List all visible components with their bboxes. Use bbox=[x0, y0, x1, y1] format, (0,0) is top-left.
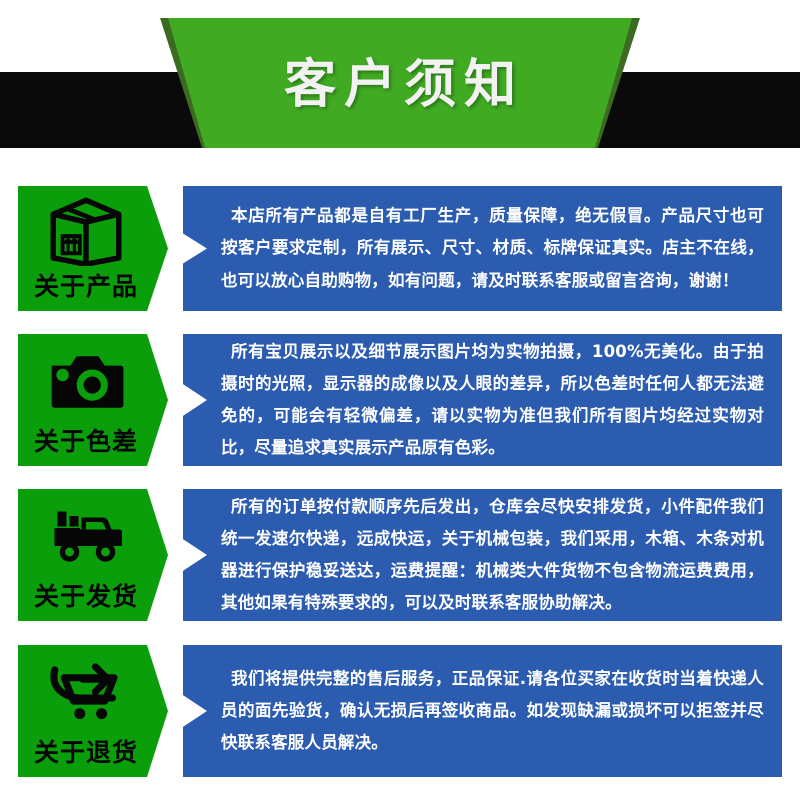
return-cart-icon bbox=[47, 645, 125, 740]
page-title: 客户须知 bbox=[276, 59, 524, 111]
section-row-color: 关于色差 所有宝贝展示以及细节展示图片均为实物拍摄，100%无美化。由于拍摄时的… bbox=[0, 334, 800, 466]
section-row-return: 关于退货 我们将提供完整的售后服务，正品保证.请各位买家在收货时当着快递人员的面… bbox=[0, 645, 800, 777]
section-label-product[interactable]: 关于产品 bbox=[18, 186, 168, 311]
section-body-text: 我们将提供完整的售后服务，正品保证.请各位买家在收货时当着快递人员的面先验货，确… bbox=[183, 663, 782, 760]
section-label-color[interactable]: 关于色差 bbox=[18, 334, 168, 466]
section-body-text: 所有宝贝展示以及细节展示图片均为实物拍摄，100%无美化。由于拍摄时的光照，显示… bbox=[183, 336, 782, 465]
section-panel-return: 我们将提供完整的售后服务，正品保证.请各位买家在收货时当着快递人员的面先验货，确… bbox=[183, 645, 782, 777]
section-row-product: 关于产品 本店所有产品都是自有工厂生产，质量保障，绝无假冒。产品尺寸也可按客户要… bbox=[0, 186, 800, 311]
package-box-icon bbox=[47, 186, 125, 274]
section-label-return[interactable]: 关于退货 bbox=[18, 645, 168, 777]
section-body-text: 本店所有产品都是自有工厂生产，质量保障，绝无假冒。产品尺寸也可按客户要求定制，所… bbox=[183, 200, 782, 297]
section-panel-color: 所有宝贝展示以及细节展示图片均为实物拍摄，100%无美化。由于拍摄时的光照，显示… bbox=[183, 334, 782, 466]
page-header: 客户须知 bbox=[0, 0, 800, 160]
forklift-truck-icon bbox=[47, 489, 125, 584]
section-row-shipping: 关于发货 所有的订单按付款顺序先后发出，仓库会尽快安排发货，小件配件我们统一发速… bbox=[0, 489, 800, 621]
section-label-shipping[interactable]: 关于发货 bbox=[18, 489, 168, 621]
section-label-text: 关于产品 bbox=[34, 274, 138, 311]
section-panel-shipping: 所有的订单按付款顺序先后发出，仓库会尽快安排发货，小件配件我们统一发速尔快递，远… bbox=[183, 489, 782, 621]
section-panel-product: 本店所有产品都是自有工厂生产，质量保障，绝无假冒。产品尺寸也可按客户要求定制，所… bbox=[183, 186, 782, 311]
section-label-text: 关于发货 bbox=[34, 584, 138, 621]
camera-icon bbox=[47, 334, 125, 429]
banner-ribbon: 客户须知 bbox=[168, 18, 632, 148]
section-label-text: 关于退货 bbox=[34, 740, 138, 777]
section-label-text: 关于色差 bbox=[34, 429, 138, 466]
section-body-text: 所有的订单按付款顺序先后发出，仓库会尽快安排发货，小件配件我们统一发速尔快递，远… bbox=[183, 491, 782, 620]
